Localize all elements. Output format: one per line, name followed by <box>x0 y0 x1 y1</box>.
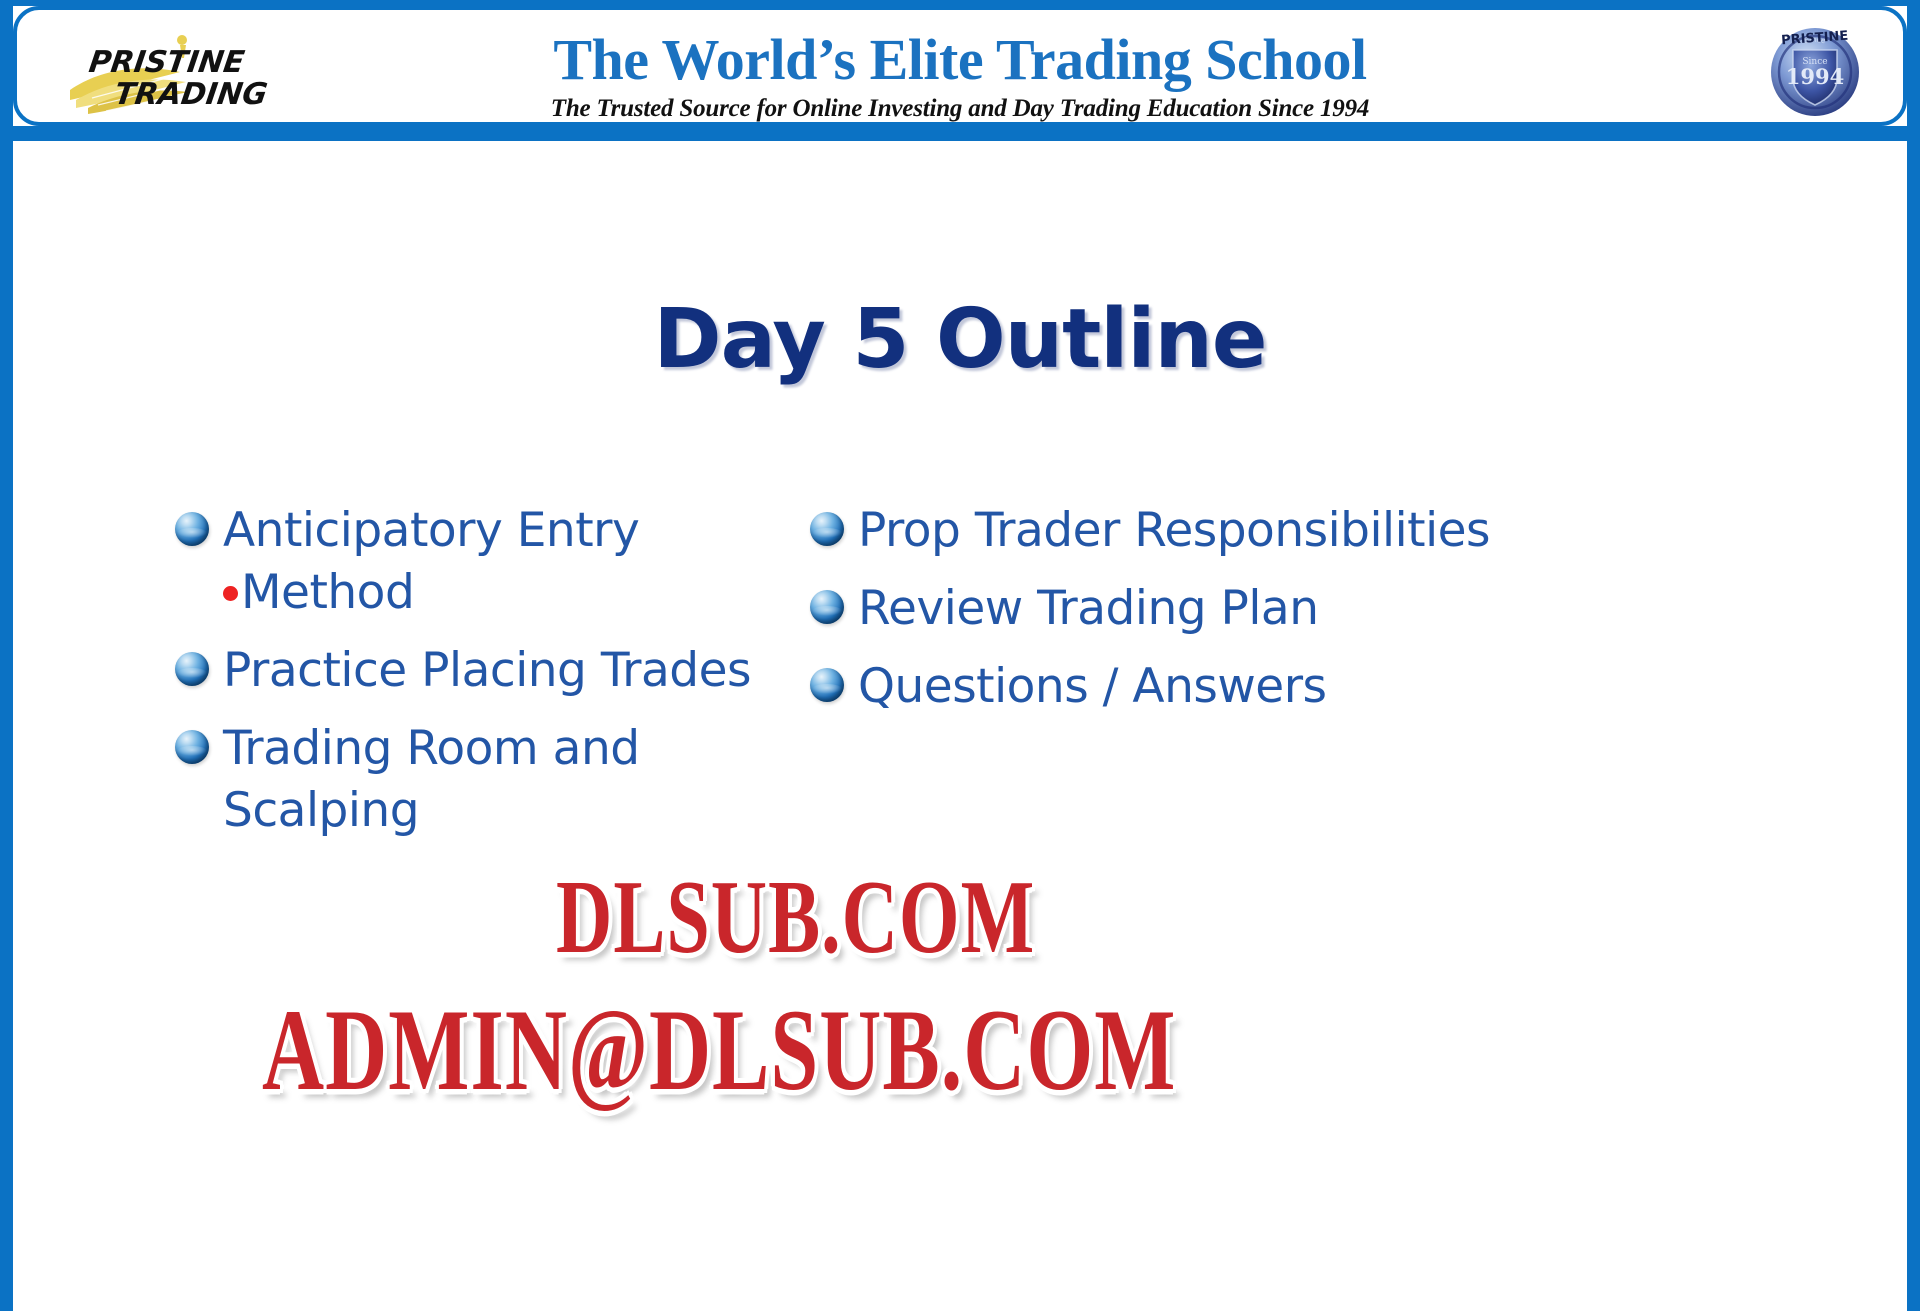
header-divider <box>13 126 1907 141</box>
watermark-email: ADMIN@DLSUB.COM <box>262 983 1176 1118</box>
red-dot-icon <box>223 586 238 601</box>
list-item[interactable]: Practice Placing Trades <box>175 640 800 702</box>
header-title: The World’s Elite Trading School <box>17 30 1903 91</box>
list-item[interactable]: Trading Room and Scalping <box>175 718 800 842</box>
list-item[interactable]: Questions / Answers <box>810 656 1800 718</box>
outline-column-left: Anticipatory Entry Method Practice Placi… <box>0 500 800 858</box>
header-tagline: The Trusted Source for Online Investing … <box>17 95 1903 123</box>
sphere-bullet-icon <box>175 512 209 546</box>
sphere-bullet-icon <box>810 590 844 624</box>
list-item-label: Questions / Answers <box>858 656 1327 718</box>
svg-text:1994: 1994 <box>1786 64 1844 89</box>
list-item-label: Practice Placing Trades <box>223 640 751 702</box>
list-item-label: Prop Trader Responsibilities <box>858 500 1490 562</box>
since-1994-seal-icon: Since Since 1994 PRISTINE <box>1763 20 1867 124</box>
page-title: Day 5 Outline <box>0 292 1920 387</box>
watermark-site-url: DLSUB.COM <box>556 856 1035 978</box>
sphere-bullet-icon <box>175 730 209 764</box>
list-item[interactable]: Prop Trader Responsibilities <box>810 500 1800 562</box>
sphere-bullet-icon <box>810 668 844 702</box>
sub-list-item-label: Method <box>241 565 414 620</box>
outline-content: Anticipatory Entry Method Practice Placi… <box>0 500 1920 858</box>
sphere-bullet-icon <box>810 512 844 546</box>
header-banner: PRISTINE TRADING The World’s Elite Tradi… <box>13 6 1907 126</box>
list-item[interactable]: Anticipatory Entry Method <box>175 500 800 624</box>
list-item-label: Trading Room and Scalping <box>223 718 643 842</box>
list-item-label: Anticipatory Entry Method <box>223 500 639 624</box>
list-item-label: Review Trading Plan <box>858 578 1319 640</box>
outline-column-right: Prop Trader Responsibilities Review Trad… <box>800 500 1800 734</box>
list-item[interactable]: Review Trading Plan <box>810 578 1800 640</box>
sphere-bullet-icon <box>175 652 209 686</box>
sub-list-item: Method <box>223 562 639 624</box>
